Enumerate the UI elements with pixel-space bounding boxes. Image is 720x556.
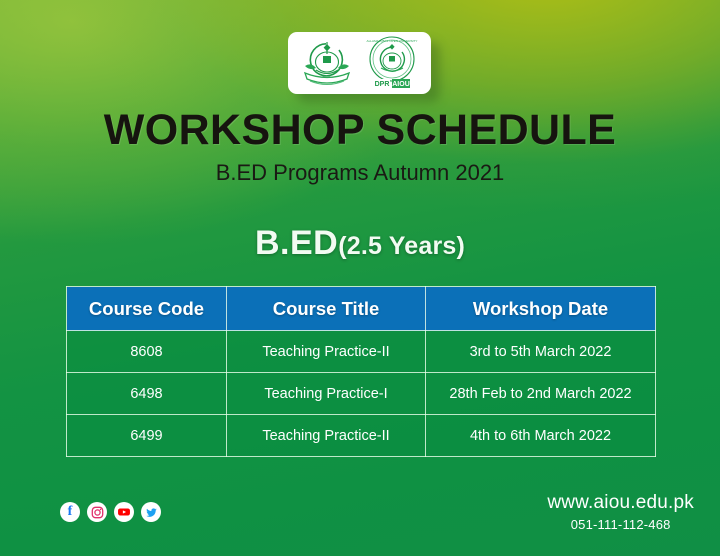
program-duration: (2.5 Years) <box>338 232 465 260</box>
facebook-icon[interactable]: f <box>60 502 80 522</box>
contact-info: www.aiou.edu.pk 051-111-112-468 <box>547 492 694 532</box>
table-header-row: Course Code Course Title Workshop Date <box>67 287 656 331</box>
youtube-glyph <box>117 505 131 519</box>
cell-course-title: Teaching Practice-II <box>227 415 426 457</box>
instagram-glyph <box>91 506 104 519</box>
cell-workshop-date: 3rd to 5th March 2022 <box>426 331 656 373</box>
logo-badge-dpr: DPR <box>374 81 389 88</box>
cell-course-title: Teaching Practice-I <box>227 373 426 415</box>
cell-workshop-date: 4th to 6th March 2022 <box>426 415 656 457</box>
page-subtitle: B.ED Programs Autumn 2021 <box>0 160 720 186</box>
column-header-course-title: Course Title <box>227 287 426 331</box>
instagram-icon[interactable] <box>87 502 107 522</box>
twitter-icon[interactable] <box>141 502 161 522</box>
cell-course-code: 8608 <box>67 331 227 373</box>
logo-card: ALLAMA IQBAL OPEN UNIVERSITY DPR AIOU <box>288 32 431 94</box>
program-heading: B.ED(2.5 Years) <box>0 224 720 263</box>
column-header-workshop-date: Workshop Date <box>426 287 656 331</box>
table-row: 8608 Teaching Practice-II 3rd to 5th Mar… <box>67 331 656 373</box>
website-url[interactable]: www.aiou.edu.pk <box>547 492 694 514</box>
youtube-icon[interactable] <box>114 502 134 522</box>
cell-workshop-date: 28th Feb to 2nd March 2022 <box>426 373 656 415</box>
twitter-glyph <box>145 506 158 519</box>
cell-course-title: Teaching Practice-II <box>227 331 426 373</box>
workshop-schedule-table: Course Code Course Title Workshop Date 8… <box>66 286 656 457</box>
facebook-glyph: f <box>68 505 73 519</box>
government-of-pakistan-crest-icon <box>297 36 357 90</box>
social-links: f <box>60 502 161 522</box>
svg-text:ALLAMA IQBAL OPEN UNIVERSITY: ALLAMA IQBAL OPEN UNIVERSITY <box>366 39 417 43</box>
phone-number: 051-111-112-468 <box>547 517 694 532</box>
aiou-crest-icon: ALLAMA IQBAL OPEN UNIVERSITY DPR AIOU <box>361 35 423 91</box>
column-header-course-code: Course Code <box>67 287 227 331</box>
page-title: WORKSHOP SCHEDULE <box>0 106 720 155</box>
cell-course-code: 6499 <box>67 415 227 457</box>
program-name: B.ED <box>255 224 338 262</box>
table-row: 6499 Teaching Practice-II 4th to 6th Mar… <box>67 415 656 457</box>
cell-course-code: 6498 <box>67 373 227 415</box>
logo-banner: ALLAMA IQBAL OPEN UNIVERSITY DPR AIOU <box>288 32 431 94</box>
logo-badge-aiou: AIOU <box>392 81 410 88</box>
table-row: 6498 Teaching Practice-I 28th Feb to 2nd… <box>67 373 656 415</box>
